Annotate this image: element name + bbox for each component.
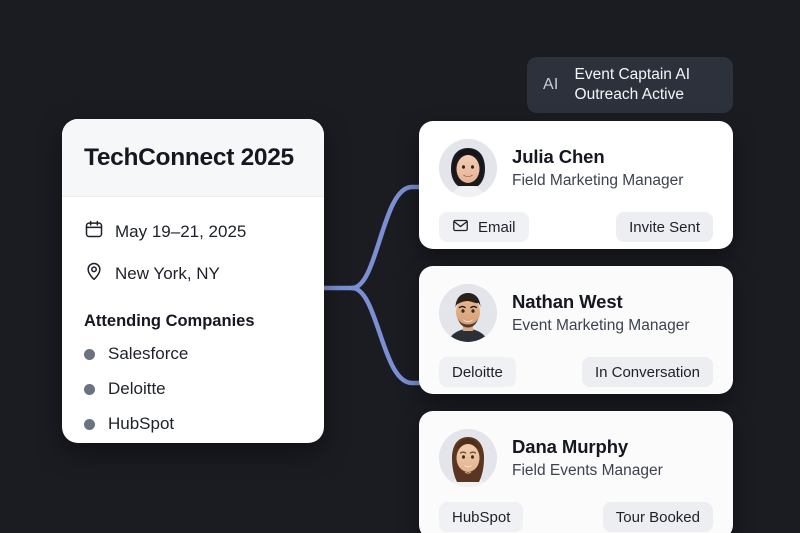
company-name: Deloitte [108,379,166,399]
company-tag[interactable]: HubSpot [439,502,523,532]
attending-companies-heading: Attending Companies [84,312,302,331]
connector-branch-down [352,288,421,383]
list-item: HubSpot [84,414,302,434]
contact-header: Nathan West Event Marketing Manager [439,284,713,342]
event-card[interactable]: TechConnect 2025 May 19–21, 2025 [62,119,324,443]
contact-name: Julia Chen [512,146,683,168]
map-pin-icon [84,261,104,286]
company-tag[interactable]: Deloitte [439,357,516,387]
contact-role: Field Marketing Manager [512,171,683,190]
event-location: New York, NY [115,264,220,284]
event-date-row: May 19–21, 2025 [84,219,302,244]
ai-badge-line-1: Event Captain AI [575,65,690,85]
company-name: Salesforce [108,344,188,364]
ai-badge-text: Event Captain AI Outreach Active [575,65,690,105]
event-card-header: TechConnect 2025 [62,119,324,197]
email-button-label: Email [478,219,516,236]
bullet-dot-icon [84,419,95,430]
contact-actions: Deloitte In Conversation [439,357,713,387]
event-date: May 19–21, 2025 [115,222,246,242]
event-title: TechConnect 2025 [84,144,294,172]
ai-badge-line-2: Outreach Active [575,85,690,105]
bullet-dot-icon [84,384,95,395]
list-item: Deloitte [84,379,302,399]
contact-identity: Julia Chen Field Marketing Manager [512,146,683,190]
contact-identity: Dana Murphy Field Events Manager [512,436,663,480]
canvas: AI Event Captain AI Outreach Active Tech… [0,0,800,533]
bullet-dot-icon [84,349,95,360]
avatar-nathan-west [439,284,497,342]
calendar-icon [84,219,104,244]
avatar-dana-murphy [439,429,497,487]
event-location-row: New York, NY [84,261,302,286]
contact-actions: Email Invite Sent [439,212,713,242]
envelope-icon [452,217,469,238]
contact-name: Dana Murphy [512,436,663,458]
status-badge: In Conversation [582,357,713,387]
ai-badge-tag: AI [543,76,559,94]
contact-actions: HubSpot Tour Booked [439,502,713,532]
contact-header: Dana Murphy Field Events Manager [439,429,713,487]
contact-role: Event Marketing Manager [512,316,689,335]
contact-card[interactable]: Julia Chen Field Marketing Manager Email… [419,121,733,249]
contact-identity: Nathan West Event Marketing Manager [512,291,689,335]
contact-name: Nathan West [512,291,689,313]
contact-card[interactable]: Dana Murphy Field Events Manager HubSpot… [419,411,733,533]
contact-header: Julia Chen Field Marketing Manager [439,139,713,197]
status-badge: Invite Sent [616,212,713,242]
ai-status-badge: AI Event Captain AI Outreach Active [527,57,733,113]
email-button[interactable]: Email [439,212,529,242]
contact-role: Field Events Manager [512,461,663,480]
avatar-julia-chen [439,139,497,197]
list-item: Salesforce [84,344,302,364]
contact-card[interactable]: Nathan West Event Marketing Manager Delo… [419,266,733,394]
event-card-body: May 19–21, 2025 New York, NY Attending C… [62,197,324,434]
company-name: HubSpot [108,414,174,434]
status-badge: Tour Booked [603,502,713,532]
connector-branch-up [352,187,421,288]
